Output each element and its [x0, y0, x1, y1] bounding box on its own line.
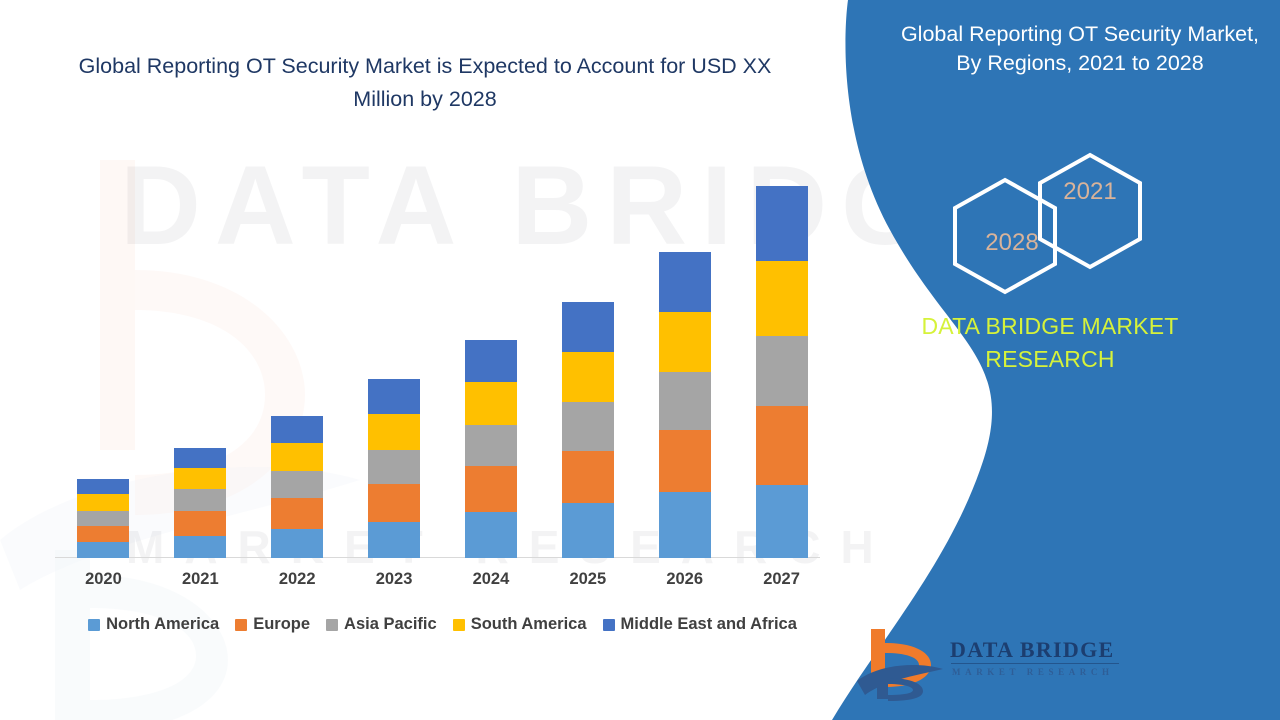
bar-segment: [368, 414, 420, 450]
bar-segment: [756, 336, 808, 406]
bar-segment: [659, 372, 711, 430]
legend-label: Europe: [253, 615, 310, 634]
bar-segment: [562, 302, 614, 352]
bar-column: [152, 140, 249, 558]
bar-column: [636, 140, 733, 558]
x-axis-tick-label: 2024: [443, 570, 540, 589]
bar-segment: [756, 485, 808, 558]
bar-segment: [271, 416, 323, 443]
bar-segment: [77, 494, 129, 511]
x-axis-tick-label: 2021: [152, 570, 249, 589]
bar-segment: [77, 542, 129, 558]
x-axis-tick-label: 2027: [733, 570, 830, 589]
bar-segment: [756, 261, 808, 336]
bar-segment: [368, 379, 420, 414]
x-axis-tick-label: 2020: [55, 570, 152, 589]
bar-column: [443, 140, 540, 558]
bar-segment: [77, 526, 129, 542]
legend-label: Asia Pacific: [344, 615, 437, 634]
infographic-canvas: DATA BRIDGE MARKET RESEARCH Global Repor…: [0, 0, 1280, 720]
legend-swatch-icon: [453, 619, 465, 631]
hexagon-2021-label: 2021: [1045, 178, 1135, 206]
bar-segment: [77, 479, 129, 494]
legend-item[interactable]: South America: [453, 615, 587, 634]
bar-segment: [271, 471, 323, 498]
chart-legend: North AmericaEuropeAsia PacificSouth Ame…: [55, 615, 830, 634]
bar-column: [55, 140, 152, 558]
bar-segment: [174, 468, 226, 489]
legend-label: Middle East and Africa: [621, 615, 797, 634]
footer-logo-title: DATA BRIDGE: [950, 637, 1114, 663]
stacked-bar: [271, 416, 323, 558]
bar-segment: [659, 430, 711, 492]
bar-column: [539, 140, 636, 558]
bar-column: [733, 140, 830, 558]
bar-segment: [368, 484, 420, 522]
bar-segment: [368, 522, 420, 558]
bar-segment: [465, 425, 517, 466]
footer-logo-divider: [951, 663, 1119, 664]
stacked-bar: [465, 340, 517, 558]
chart-title: Global Reporting OT Security Market is E…: [55, 50, 795, 115]
legend-label: North America: [106, 615, 219, 634]
brand-name-text: DATA BRIDGE MARKET RESEARCH: [880, 310, 1220, 375]
bar-segment: [465, 382, 517, 425]
bar-segment: [465, 466, 517, 512]
bar-segment: [271, 529, 323, 558]
legend-item[interactable]: Europe: [235, 615, 310, 634]
bar-segment: [756, 186, 808, 261]
x-axis-tick-label: 2023: [346, 570, 443, 589]
bar-segment: [368, 450, 420, 484]
footer-logo: DATA BRIDGE MARKET RESEARCH: [855, 625, 1125, 705]
legend-item[interactable]: Asia Pacific: [326, 615, 437, 634]
bar-segment: [271, 443, 323, 471]
stacked-bar: [368, 379, 420, 558]
legend-label: South America: [471, 615, 587, 634]
bar-segment: [174, 536, 226, 558]
footer-logo-subtitle: MARKET RESEARCH: [952, 667, 1114, 677]
bar-segment: [174, 448, 226, 468]
bar-segment: [562, 503, 614, 558]
bar-segment: [174, 489, 226, 511]
bar-segment: [562, 451, 614, 503]
stacked-bar: [756, 186, 808, 558]
legend-swatch-icon: [88, 619, 100, 631]
bar-segment: [562, 352, 614, 402]
legend-item[interactable]: North America: [88, 615, 219, 634]
bar-segment: [659, 492, 711, 558]
bar-segment: [174, 511, 226, 536]
legend-swatch-icon: [235, 619, 247, 631]
bar-segment: [465, 340, 517, 382]
legend-swatch-icon: [326, 619, 338, 631]
bar-segment: [756, 406, 808, 485]
legend-item[interactable]: Middle East and Africa: [603, 615, 797, 634]
bar-column: [346, 140, 443, 558]
stacked-bar: [174, 448, 226, 558]
stacked-bar: [77, 479, 129, 558]
x-axis-tick-label: 2025: [539, 570, 636, 589]
side-panel-title: Global Reporting OT Security Market, By …: [900, 20, 1260, 78]
hexagon-2028-label: 2028: [967, 229, 1057, 257]
stacked-bar: [562, 302, 614, 558]
x-axis-tick-labels: 20202021202220232024202520262027: [55, 570, 830, 589]
bar-segment: [659, 312, 711, 372]
stacked-bar: [659, 252, 711, 558]
legend-swatch-icon: [603, 619, 615, 631]
bar-segment: [562, 402, 614, 451]
x-axis-tick-label: 2022: [249, 570, 346, 589]
bar-segment: [271, 498, 323, 529]
bar-segment: [77, 511, 129, 526]
x-axis-tick-label: 2026: [636, 570, 733, 589]
bar-column: [249, 140, 346, 558]
stacked-bar-plot: [55, 140, 830, 558]
footer-logo-mark: [855, 625, 947, 703]
bar-segment: [465, 512, 517, 558]
hexagon-badges: 2021 2028: [945, 150, 1245, 310]
bar-segment: [659, 252, 711, 312]
